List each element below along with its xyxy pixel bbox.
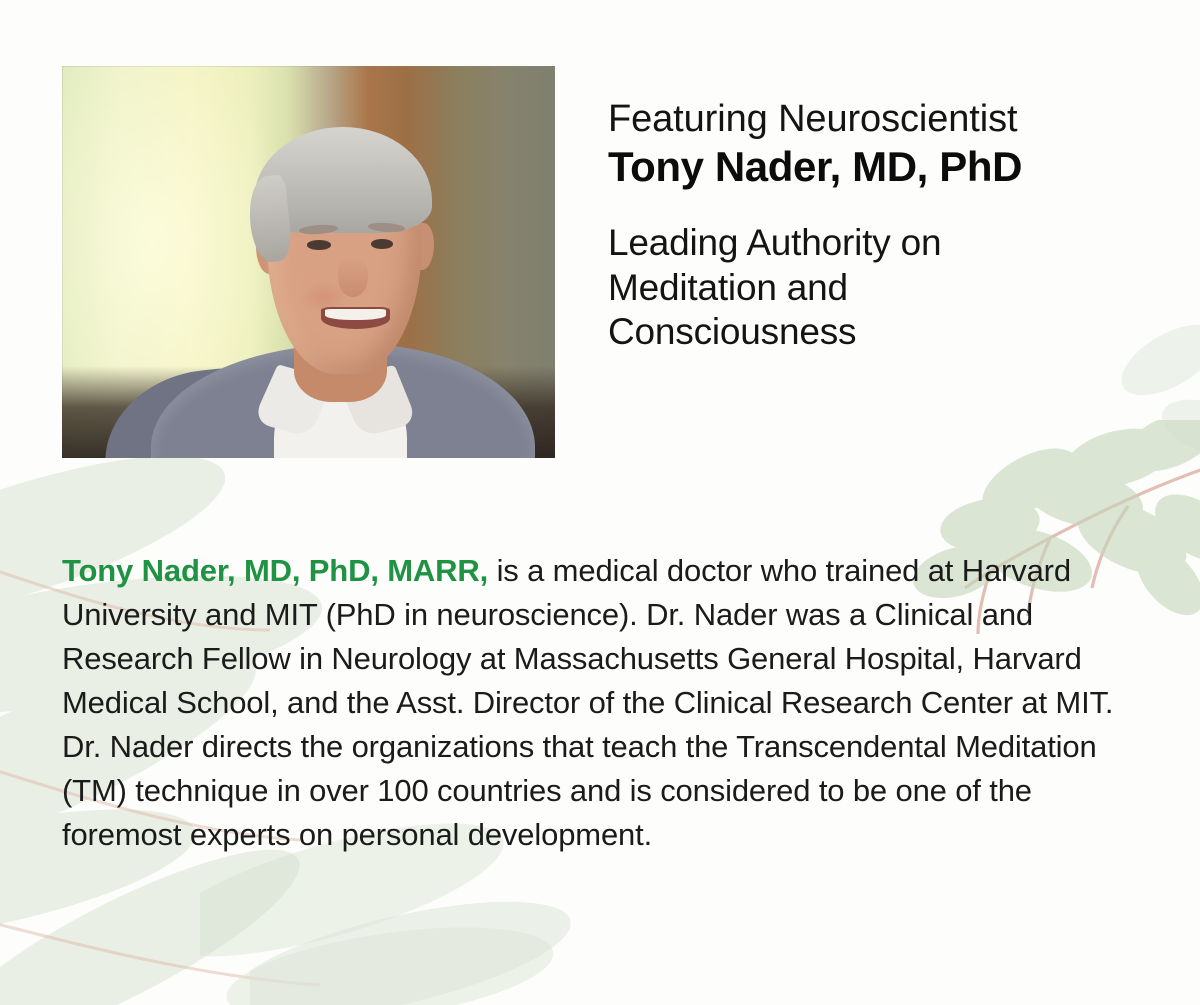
speaker-bio-card: Featuring Neuroscientist Tony Nader, MD,… xyxy=(0,0,1200,1005)
header-row: Featuring Neuroscientist Tony Nader, MD,… xyxy=(0,0,1200,470)
speaker-subtitle: Leading Authority on Meditation and Cons… xyxy=(608,221,988,354)
speaker-portrait-photo xyxy=(62,66,555,458)
speaker-name-heading: Tony Nader, MD, PhD xyxy=(608,143,1168,192)
heading-block: Featuring Neuroscientist Tony Nader, MD,… xyxy=(608,98,1168,354)
featuring-label: Featuring Neuroscientist xyxy=(608,98,1168,141)
eye-left xyxy=(307,240,332,249)
teeth xyxy=(325,309,386,320)
eye-right xyxy=(371,239,394,248)
nose xyxy=(338,258,368,297)
bio-lead-name: Tony Nader, MD, PhD, MARR, xyxy=(62,553,488,588)
smiling-mouth xyxy=(321,307,390,329)
bio-body-text: is a medical doctor who trained at Harva… xyxy=(62,553,1113,852)
speaker-bio-paragraph: Tony Nader, MD, PhD, MARR, is a medical … xyxy=(62,549,1134,857)
